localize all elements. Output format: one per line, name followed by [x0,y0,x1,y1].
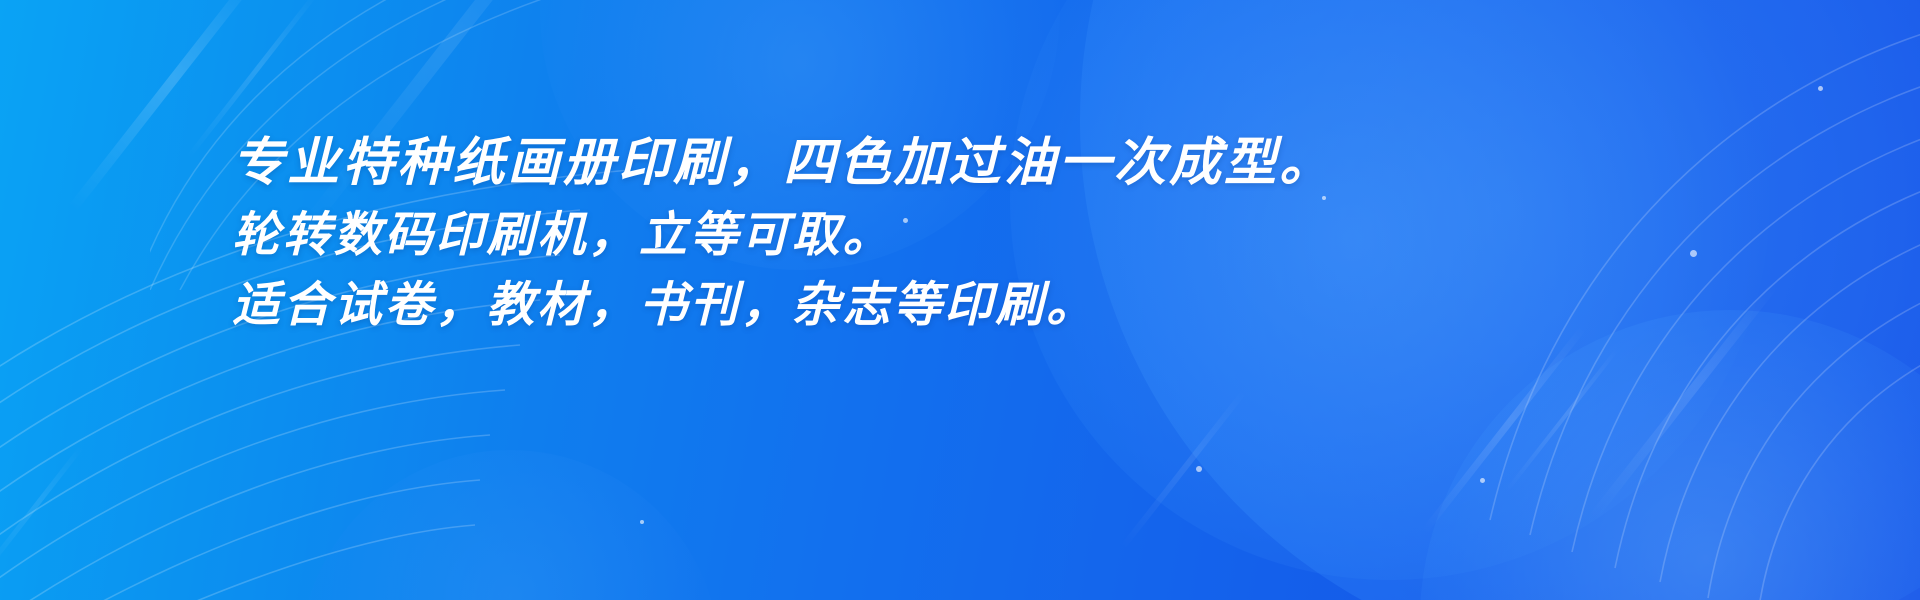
headline-line-3: 适合试卷，教材，书刊，杂志等印刷。 [232,270,1632,340]
dot [1196,466,1202,472]
headline-line-1: 专业特种纸画册印刷，四色加过油一次成型。 [232,126,1632,200]
promo-banner: 专业特种纸画册印刷，四色加过油一次成型。 轮转数码印刷机，立等可取。 适合试卷，… [0,0,1920,600]
streak [1119,389,1247,550]
headline-line-2: 轮转数码印刷机，立等可取。 [232,200,1632,270]
headline-block: 专业特种纸画册印刷，四色加过油一次成型。 轮转数码印刷机，立等可取。 适合试卷，… [232,126,1632,340]
